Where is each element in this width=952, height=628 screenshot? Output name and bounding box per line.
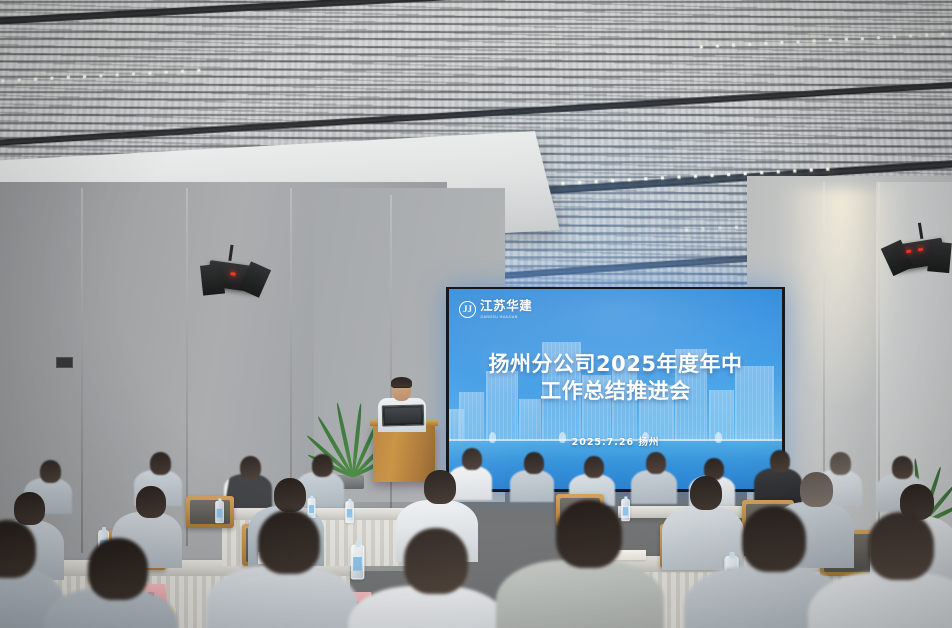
laptop-screen bbox=[385, 408, 421, 424]
podium bbox=[373, 424, 435, 482]
stage-light-barndoor bbox=[200, 264, 225, 296]
podium-laptop bbox=[382, 404, 425, 426]
led-presentation-screen[interactable]: JJ 江苏华建 JIANGSU HUAJIAN 扬州分公司2025年度年中 工作… bbox=[449, 289, 782, 489]
wall-sign bbox=[56, 357, 73, 368]
screen-sheen bbox=[449, 289, 782, 489]
wall-seam bbox=[81, 188, 83, 552]
water-bottle[interactable] bbox=[621, 499, 630, 521]
water-bottle[interactable] bbox=[351, 545, 365, 580]
stage-light-barndoor bbox=[927, 241, 952, 273]
water-bottle[interactable] bbox=[215, 501, 224, 523]
stage-light-indicator bbox=[230, 272, 235, 276]
wall-spotlight-wash bbox=[781, 188, 905, 402]
chair bbox=[186, 496, 234, 528]
speaker-glasses bbox=[393, 387, 410, 392]
water-bottle[interactable] bbox=[308, 498, 316, 518]
conference-room-photo: JJ 江苏华建 JIANGSU HUAJIAN 扬州分公司2025年度年中 工作… bbox=[0, 0, 952, 628]
water-bottle[interactable] bbox=[345, 501, 354, 523]
wall-seam bbox=[186, 188, 188, 546]
